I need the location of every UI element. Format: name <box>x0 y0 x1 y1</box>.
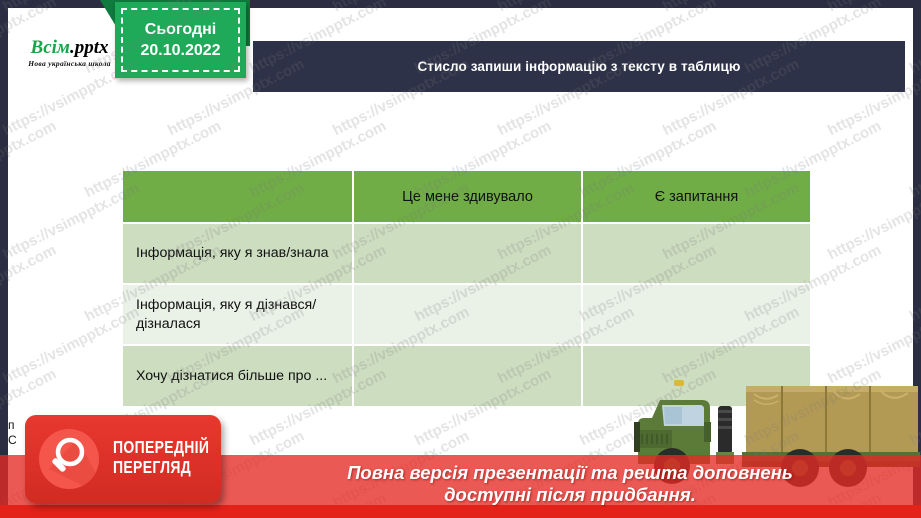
truck-beacon <box>674 380 684 386</box>
table-header-blank <box>123 171 353 223</box>
information-table: Це мене здивувало Є запитання Інформація… <box>123 171 810 407</box>
truck-cargo-tarp <box>746 386 918 452</box>
table-header-questions: Є запитання <box>582 171 810 223</box>
row-cell-surprised[interactable] <box>353 345 582 406</box>
preview-label-line-2: ПЕРЕГЛЯД <box>113 458 209 476</box>
preview-label-line-1: ПОПЕРЕДНІЙ <box>113 438 209 456</box>
row-cell-surprised[interactable] <box>353 223 582 284</box>
row-label-want-to-know: Хочу дізнатися більше про ... <box>123 345 353 406</box>
purchase-banner-text: Повна версія презентації та решта доповн… <box>290 458 850 510</box>
logo-tagline: Нова українська школа <box>28 59 111 68</box>
date-badge-label: Сьогодні <box>145 21 216 39</box>
magnifier-icon <box>39 429 99 489</box>
date-badge-value: 20.10.2022 <box>140 42 220 60</box>
table-head: Це мене здивувало Є запитання <box>123 171 810 223</box>
table-header-surprised: Це мене здивувало <box>353 171 582 223</box>
banner-line-2: доступні після придбання. <box>444 485 696 506</box>
slide-canvas: Це мене здивувало Є запитання Інформація… <box>0 0 921 518</box>
row-label-learned: Інформація, яку я дізнався/дізналася <box>123 284 353 345</box>
table: Це мене здивувало Є запитання Інформація… <box>123 171 810 406</box>
logo-name-black: .pptx <box>70 37 109 58</box>
table-header-row: Це мене здивувало Є запитання <box>123 171 810 223</box>
banner-line-1: Повна версія презентації та решта доповн… <box>347 463 793 484</box>
table-row: Інформація, яку я знав/знала <box>123 223 810 284</box>
preview-badge[interactable]: ПОПЕРЕДНІЙ ПЕРЕГЛЯД <box>25 415 221 503</box>
date-badge-frame: Сьогодні 20.10.2022 <box>121 8 240 72</box>
preview-badge-label: ПОПЕРЕДНІЙ ПЕРЕГЛЯД <box>113 438 233 477</box>
table-row: Інформація, яку я дізнався/дізналася <box>123 284 810 345</box>
slide-title-bar: Стисло запиши інформацію з текcту в табл… <box>253 41 905 92</box>
date-badge: Сьогодні 20.10.2022 <box>115 2 246 78</box>
row-cell-surprised[interactable] <box>353 284 582 345</box>
logo-wordmark: Всім.pptx <box>31 38 109 57</box>
row-label-knew: Інформація, яку я знав/знала <box>123 223 353 284</box>
row-cell-questions[interactable] <box>582 223 810 284</box>
row-cell-questions[interactable] <box>582 284 810 345</box>
logo-name-green: Всім <box>31 37 70 58</box>
site-logo[interactable]: Всім.pptx Нова українська школа <box>12 33 127 73</box>
page-title: Стисло запиши інформацію з текcту в табл… <box>417 59 740 74</box>
